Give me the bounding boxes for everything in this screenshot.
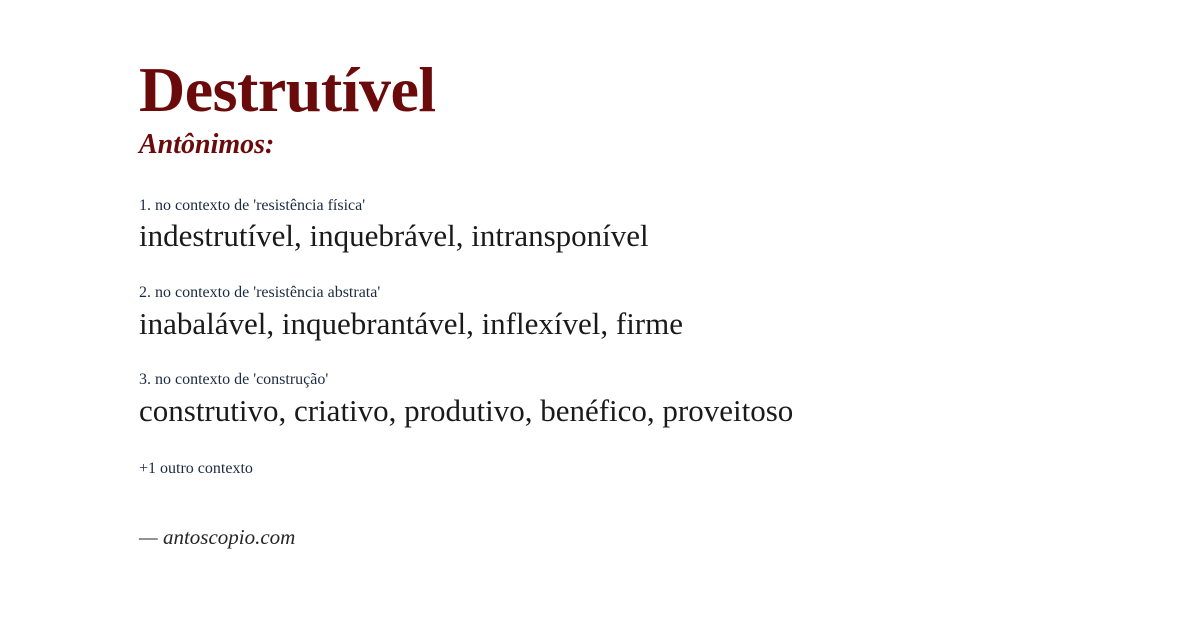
headword-title: Destrutível [139, 0, 1200, 122]
sense-entry: 2. no contexto de 'resistência abstrata'… [139, 284, 1200, 343]
sense-context-label: 2. no contexto de 'resistência abstrata' [139, 284, 1200, 302]
source-attribution: — antoscopio.com [139, 479, 1200, 549]
sense-antonym-words: construtivo, criativo, produtivo, benéfi… [139, 390, 1200, 431]
sense-antonym-words: inabalável, inquebrantável, inflexível, … [139, 303, 1200, 344]
sense-antonym-words: indestrutível, inquebrável, intransponív… [139, 215, 1200, 256]
em-dash-glyph: — [139, 525, 158, 549]
source-site-name: antoscopio.com [163, 525, 295, 549]
antonym-card: Destrutível Antônimos: 1. no contexto de… [0, 0, 1200, 628]
more-contexts-note: +1 outro contexto [139, 430, 1200, 478]
sense-entry: 3. no contexto de 'construção' construti… [139, 371, 1200, 430]
sense-context-label: 1. no contexto de 'resistência física' [139, 197, 1200, 215]
sense-context-label: 3. no contexto de 'construção' [139, 371, 1200, 389]
sense-list: 1. no contexto de 'resistência física' i… [139, 159, 1200, 430]
sense-entry: 1. no contexto de 'resistência física' i… [139, 197, 1200, 256]
section-subtitle-antonyms: Antônimos: [139, 122, 1200, 159]
